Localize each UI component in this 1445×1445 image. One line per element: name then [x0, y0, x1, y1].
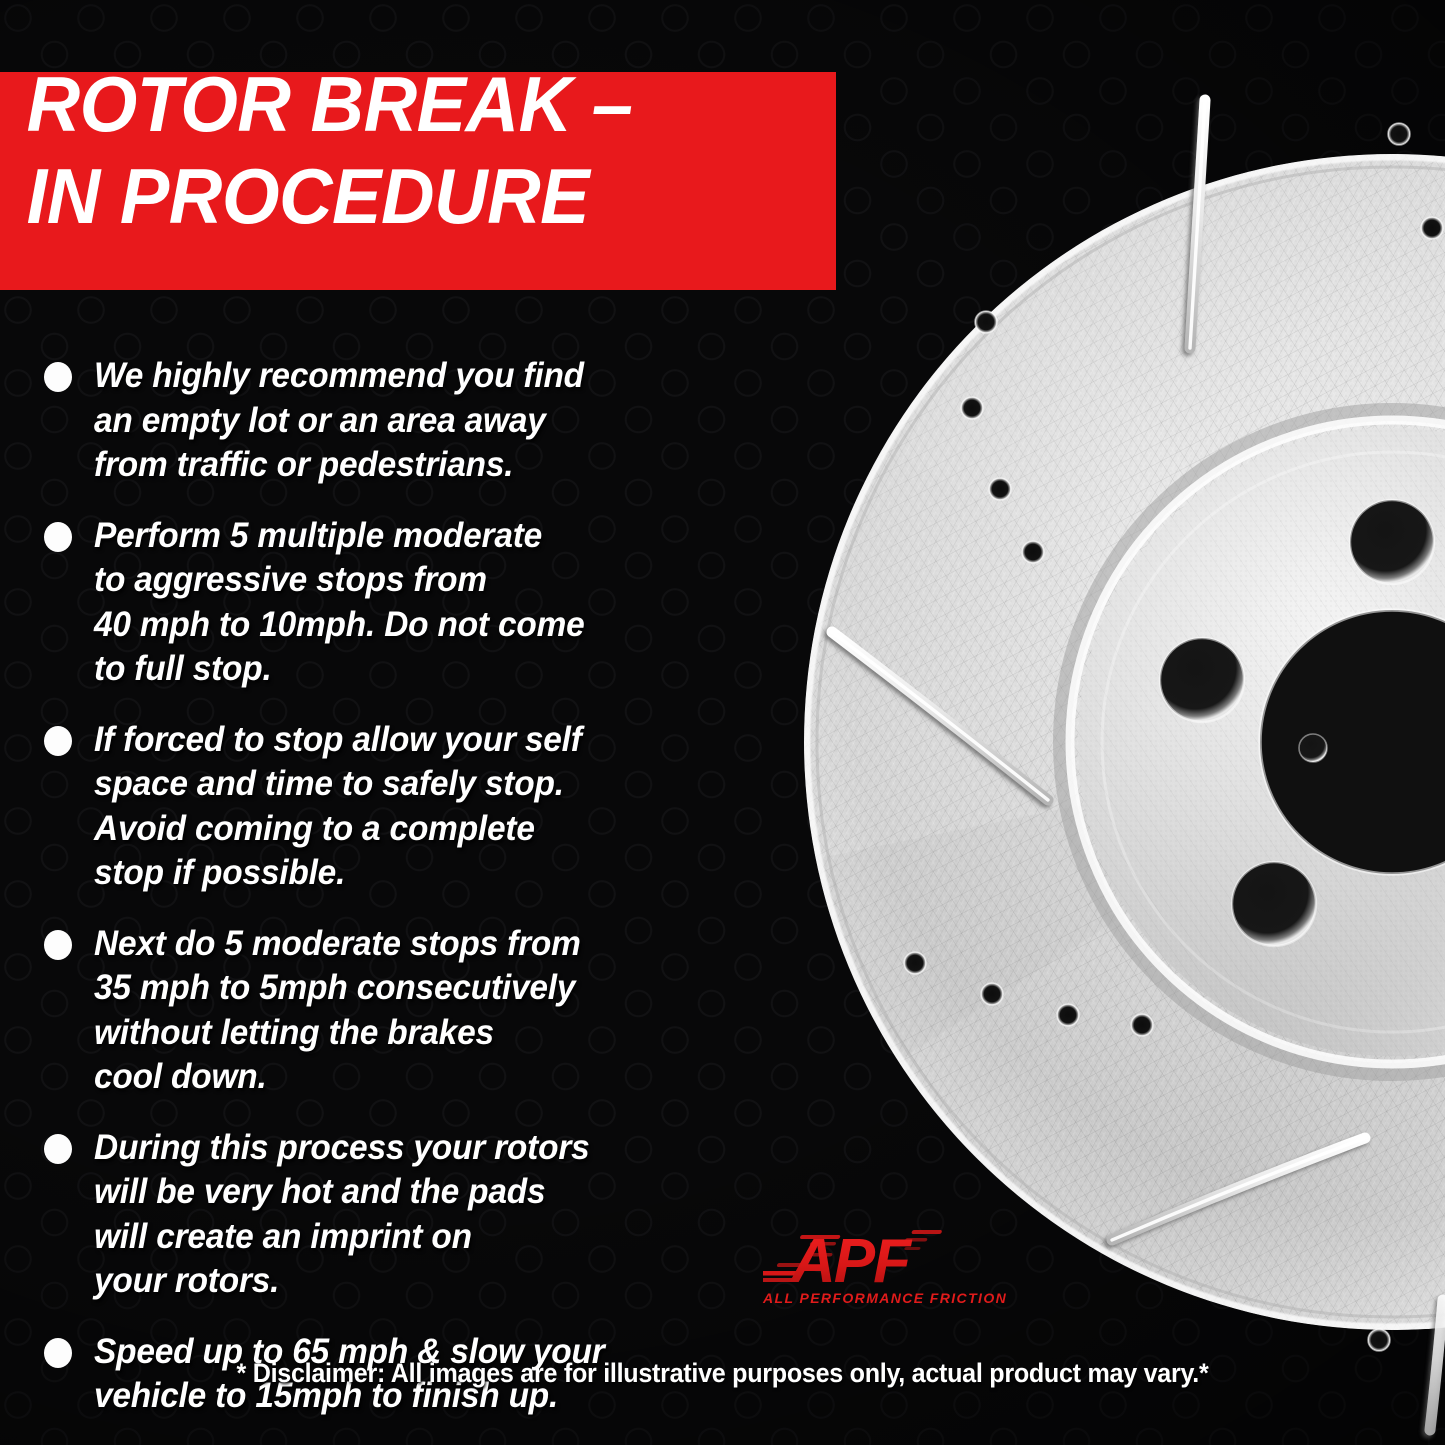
apf-tagline: ALL PERFORMANCE FRICTION	[763, 1290, 978, 1306]
bullet-dot-icon	[44, 1134, 72, 1164]
list-item-text: Perform 5 multiple moderate to aggressiv…	[94, 514, 743, 692]
bullet-dot-icon	[44, 362, 72, 392]
apf-logo: APF ALL PERFORMANCE FRICTION	[763, 1222, 978, 1322]
list-item: We highly recommend you find an empty lo…	[44, 354, 774, 488]
bullet-dot-icon	[44, 726, 72, 756]
list-item: Next do 5 moderate stops from 35 mph to …	[44, 922, 774, 1100]
procedure-list: We highly recommend you find an empty lo…	[44, 354, 774, 1419]
apf-logo-icon: APF	[763, 1222, 978, 1294]
bullet-dot-icon	[44, 522, 72, 552]
list-item-text: If forced to stop allow your self space …	[94, 718, 743, 896]
speed-streaks-right	[904, 1230, 942, 1250]
list-item: If forced to stop allow your self space …	[44, 718, 774, 896]
list-item: Perform 5 multiple moderate to aggressiv…	[44, 514, 774, 692]
apf-wordmark: APF	[789, 1227, 913, 1294]
page-title: ROTOR BREAK – IN PROCEDURE	[0, 58, 855, 242]
list-item-text: During this process your rotors will be …	[94, 1126, 743, 1304]
disclaimer-text: * Disclaimer: All images are for illustr…	[51, 1358, 1395, 1389]
bullet-dot-icon	[44, 930, 72, 960]
poster-canvas: ROTOR BREAK – IN PROCEDURE We highly rec…	[0, 0, 1445, 1445]
apf-logo-mark: APF	[763, 1222, 978, 1292]
list-item: During this process your rotors will be …	[44, 1126, 774, 1304]
list-item-text: We highly recommend you find an empty lo…	[94, 354, 743, 488]
list-item-text: Next do 5 moderate stops from 35 mph to …	[94, 922, 743, 1100]
